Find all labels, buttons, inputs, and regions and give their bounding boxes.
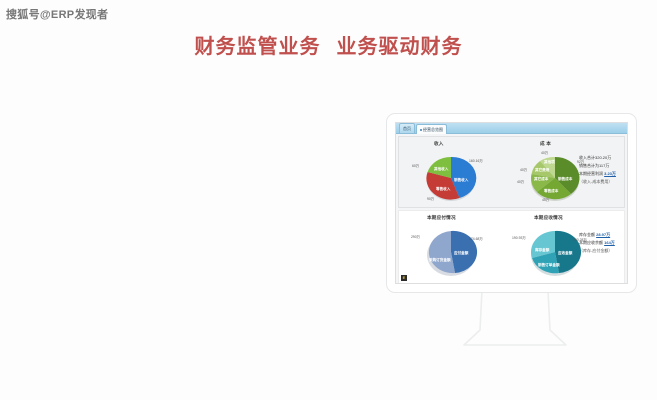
tab-status-dot-icon <box>420 129 422 131</box>
summary2-line-1-value: 28.97万 <box>596 232 610 237</box>
summary2-line-2-label: 本期应收余额 <box>579 240 603 245</box>
slice-label-income-1: 零售收入 <box>435 186 451 191</box>
summary-income-cost: 收入合计320.20万 销售合计为117万 本期经营利润 3.23万 （收入-成… <box>579 154 616 186</box>
tab-overview-label: 经营总览图 <box>423 127 443 132</box>
tab-home[interactable]: 首页 <box>399 123 415 133</box>
slice-label-cost-0: 销售成本 <box>558 176 573 181</box>
slice-label-receivable-2: 库存金额 <box>534 247 550 252</box>
tab-overview[interactable]: 经营总览图 <box>416 124 447 134</box>
page-title-part1: 财务监管业务 <box>195 36 321 58</box>
summary-line-4: （收入-成本费用） <box>579 178 616 186</box>
value-label-payable-0: 174.68万 <box>469 237 483 241</box>
summary2-line-2: 本期应收余额 164万 <box>579 239 615 247</box>
pie-chart-payable: 应付金额 采购订货金额 174.68万 290万 <box>413 223 489 281</box>
summary2-line-1-label: 库存金额 <box>579 232 595 237</box>
value-label-cost-4: 40万 <box>541 151 549 155</box>
summary2-line-2-value: 164万 <box>604 240 615 245</box>
monitor-stand <box>386 290 646 360</box>
value-label-income-2: 60万 <box>412 164 420 168</box>
pie-chart-income: 销售收入 零售收入 其他收入 160.16万 60万 90万 <box>413 148 489 206</box>
chart-title-income: 收入 <box>434 141 444 147</box>
slice-label-payable-1: 采购订货金额 <box>428 257 451 262</box>
slice-label-cost-3: 其它费用 <box>534 167 550 172</box>
value-label-cost-1: 45万 <box>542 198 550 202</box>
app-badge-icon: E <box>401 275 407 281</box>
slice-label-cost-1: 零售成本 <box>543 188 559 193</box>
value-label-cost-3: 40万 <box>520 168 528 172</box>
slice-label-payable-0: 应付金额 <box>454 250 469 255</box>
summary-line-3-value: 3.23万 <box>604 171 616 176</box>
chart-title-receivable: 本期应收情况 <box>534 215 563 221</box>
value-label-income-1: 90万 <box>427 197 435 201</box>
summary-line-3: 本期经营利润 3.23万 <box>579 170 616 178</box>
slice-label-income-0: 销售收入 <box>454 177 469 182</box>
summary-payable-receivable: 库存金额 28.97万 本期应收余额 164万 （库存-应付金额） <box>579 231 615 255</box>
value-label-payable-1: 290万 <box>411 235 421 239</box>
slice-label-receivable-0: 应收金额 <box>558 250 573 255</box>
slice-label-receivable-1: 销售订单金额 <box>538 262 560 267</box>
watermark-text: 搜狐号@ERP发现者 <box>6 6 108 22</box>
slice-label-income-2: 其他收入 <box>433 166 449 171</box>
slice-label-cost-2: 其它成本 <box>533 176 549 181</box>
panel-payable-receivable: 本期应付情况 应付金额 采购订货金额 174.68万 290万 本期应收情况 <box>398 210 625 284</box>
summary-line-2: 销售合计为117万 <box>579 162 616 170</box>
page-title-part2: 业务驱动财务 <box>337 36 463 58</box>
tab-home-label: 首页 <box>403 126 411 131</box>
summary2-line-1: 库存金额 28.97万 <box>579 231 615 239</box>
page-title: 财务监管业务业务驱动财务 <box>0 30 657 59</box>
chart-title-cost: 成 本 <box>540 141 551 147</box>
monitor-device: 首页 经营总览图 收入 销售收入 <box>386 113 637 293</box>
value-label-income-0: 160.16万 <box>469 159 483 163</box>
slice-label-cost-4: 其他项 <box>543 159 555 164</box>
panel-income-cost: 收入 销售收入 零售收入 其他收入 160.16万 60万 <box>398 136 625 208</box>
value-label-receivable-2: 190.93万 <box>512 236 526 240</box>
app-screen: 首页 经营总览图 收入 销售收入 <box>395 122 628 284</box>
value-label-cost-2: 40万 <box>517 180 525 184</box>
summary2-line-3: （库存-应付金额） <box>579 247 615 255</box>
chart-title-payable: 本期应付情况 <box>427 215 456 221</box>
summary-line-1: 收入合计320.20万 <box>579 154 616 162</box>
summary-line-3-label: 本期经营利润 <box>579 171 603 176</box>
tab-bar: 首页 经营总览图 <box>396 123 627 134</box>
